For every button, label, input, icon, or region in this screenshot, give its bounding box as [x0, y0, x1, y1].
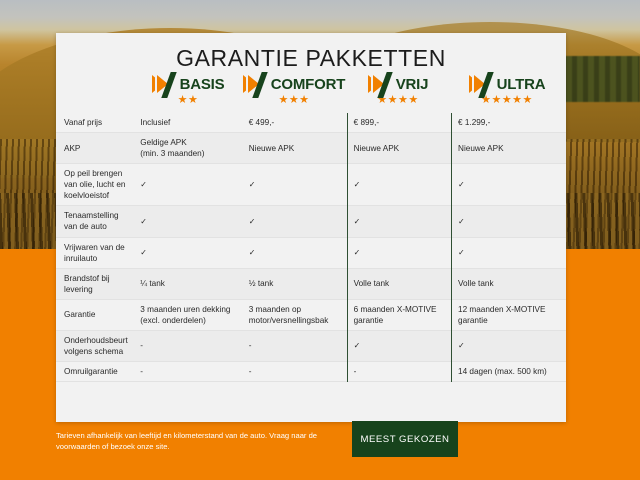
- package-header-vrij[interactable]: VRIJ ★★★★: [346, 71, 450, 113]
- cell-vrij: 6 maanden X-MOTIVE garantie: [347, 299, 451, 330]
- package-name-comfort: COMFORT: [271, 76, 345, 93]
- comparison-table: Vanaf prijsInclusief€ 499,-€ 899,-€ 1.29…: [56, 113, 566, 382]
- package-stars-comfort: ★★★: [278, 96, 309, 108]
- cell-comfort: ✓: [243, 164, 347, 206]
- footer-disclaimer: Tarieven afhankelijk van leeftijd en kil…: [56, 430, 346, 452]
- table-row: Onderhoudsbeurt volgens schema--✓✓: [56, 330, 566, 361]
- cell-vrij: Nieuwe APK: [347, 133, 451, 164]
- x-motive-logo-icon: [368, 73, 394, 95]
- x-motive-logo-icon: [243, 73, 269, 95]
- package-name-vrij: VRIJ: [396, 76, 429, 93]
- meest-gekozen-button[interactable]: MEEST GEKOZEN: [352, 421, 458, 457]
- cell-vrij: ✓: [347, 330, 451, 361]
- feature-label: Onderhoudsbeurt volgens schema: [56, 330, 134, 361]
- package-header-basis[interactable]: BASIS ★★: [134, 71, 242, 113]
- cell-ultra: ✓: [452, 330, 566, 361]
- cell-comfort: ½ tank: [243, 268, 347, 299]
- feature-label: Brandstof bij levering: [56, 268, 134, 299]
- table-row: Op peil brengen van olie, lucht en koelv…: [56, 164, 566, 206]
- table-row: Brandstof bij levering¼ tank½ tankVolle …: [56, 268, 566, 299]
- cell-comfort: Nieuwe APK: [243, 133, 347, 164]
- x-motive-logo-icon: [469, 73, 495, 95]
- cell-ultra: ✓: [452, 206, 566, 237]
- cell-vrij: ✓: [347, 206, 451, 237]
- feature-label: AKP: [56, 133, 134, 164]
- page-title: GARANTIE PAKKETTEN: [56, 33, 566, 71]
- cell-comfort: ✓: [243, 237, 347, 268]
- package-name-basis: BASIS: [180, 76, 225, 93]
- cell-ultra: 14 dagen (max. 500 km): [452, 362, 566, 382]
- cell-comfort: 3 maanden op motor/versnellingsbak: [243, 299, 347, 330]
- cell-ultra: Nieuwe APK: [452, 133, 566, 164]
- cell-ultra: ✓: [452, 237, 566, 268]
- package-stars-ultra: ★★★★★: [481, 96, 533, 108]
- cell-ultra: Volle tank: [452, 268, 566, 299]
- feature-label: Op peil brengen van olie, lucht en koelv…: [56, 164, 134, 206]
- cell-ultra: € 1.299,-: [452, 113, 566, 133]
- table-row: AKPGeldige APK(min. 3 maanden)Nieuwe APK…: [56, 133, 566, 164]
- card-footer: Tarieven afhankelijk van leeftijd en kil…: [56, 428, 566, 464]
- cell-basis: 3 maanden uren dekking (excl. onderdelen…: [134, 299, 242, 330]
- cell-basis: ✓: [134, 164, 242, 206]
- cell-basis: Geldige APK(min. 3 maanden): [134, 133, 242, 164]
- cell-comfort: -: [243, 362, 347, 382]
- table-row: Vanaf prijsInclusief€ 499,-€ 899,-€ 1.29…: [56, 113, 566, 133]
- package-stars-basis: ★★: [178, 96, 199, 108]
- pricing-card: GARANTIE PAKKETTEN BASIS ★★ COMFORT: [56, 33, 566, 422]
- package-stars-vrij: ★★★★: [377, 96, 418, 108]
- x-motive-logo-icon: [152, 73, 178, 95]
- feature-label: Omruilgarantie: [56, 362, 134, 382]
- package-header-comfort[interactable]: COMFORT ★★★: [242, 71, 346, 113]
- cell-basis: ✓: [134, 237, 242, 268]
- cell-ultra: ✓: [452, 164, 566, 206]
- cell-basis: ¼ tank: [134, 268, 242, 299]
- table-row: Tenaamstelling van de auto✓✓✓✓: [56, 206, 566, 237]
- cell-basis: -: [134, 330, 242, 361]
- table-row: Garantie3 maanden uren dekking (excl. on…: [56, 299, 566, 330]
- cell-basis: -: [134, 362, 242, 382]
- cell-vrij: € 899,-: [347, 113, 451, 133]
- cell-basis: ✓: [134, 206, 242, 237]
- cell-vrij: -: [347, 362, 451, 382]
- feature-label: Vrijwaren van de inruilauto: [56, 237, 134, 268]
- cell-vrij: ✓: [347, 164, 451, 206]
- feature-label: Garantie: [56, 299, 134, 330]
- package-header-row: BASIS ★★ COMFORT ★★★ VRIJ ★★★: [56, 71, 566, 113]
- cell-comfort: € 499,-: [243, 113, 347, 133]
- table-row: Vrijwaren van de inruilauto✓✓✓✓: [56, 237, 566, 268]
- cell-vrij: Volle tank: [347, 268, 451, 299]
- cell-basis: Inclusief: [134, 113, 242, 133]
- cell-comfort: -: [243, 330, 347, 361]
- cell-ultra: 12 maanden X-MOTIVE garantie: [452, 299, 566, 330]
- cell-vrij: ✓: [347, 237, 451, 268]
- package-header-ultra[interactable]: ULTRA ★★★★★: [450, 71, 564, 113]
- cell-comfort: ✓: [243, 206, 347, 237]
- feature-label: Tenaamstelling van de auto: [56, 206, 134, 237]
- package-name-ultra: ULTRA: [497, 76, 546, 93]
- feature-label: Vanaf prijs: [56, 113, 134, 133]
- table-row: Omruilgarantie---14 dagen (max. 500 km): [56, 362, 566, 382]
